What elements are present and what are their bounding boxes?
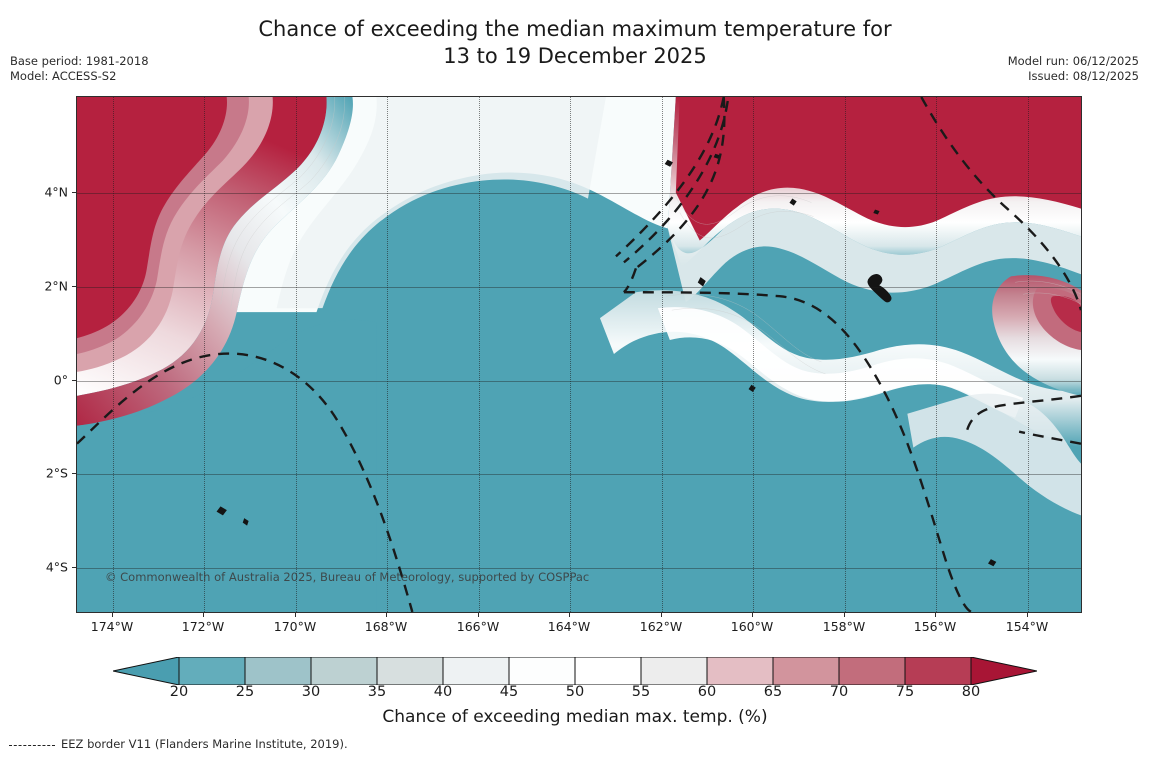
xtick-label-154w: 154°W: [1006, 619, 1048, 634]
colorbar-tick-80: 80: [962, 684, 980, 700]
ytick-mark: [72, 286, 76, 287]
title-line-1: Chance of exceeding the median maximum t…: [0, 16, 1150, 43]
colorbar-tick-55: 55: [632, 684, 650, 700]
xtick-label-164w: 164°W: [548, 619, 590, 634]
map-plot-area: © Commonwealth of Australia 2025, Bureau…: [76, 96, 1082, 613]
xtick-mark: [478, 613, 479, 617]
metadata-left: Base period: 1981-2018 Model: ACCESS-S2: [10, 54, 149, 84]
colorbar-tick-65: 65: [764, 684, 782, 700]
colorbar-tick-60: 60: [698, 684, 716, 700]
xtick-label-172w: 172°W: [182, 619, 224, 634]
xtick-label-168w: 168°W: [365, 619, 407, 634]
xtick-mark: [295, 613, 296, 617]
probability-contour-map: [77, 97, 1081, 612]
xtick-mark: [386, 613, 387, 617]
ytick-mark: [72, 473, 76, 474]
ytick-mark: [72, 192, 76, 193]
metadata-right: Model run: 06/12/2025 Issued: 08/12/2025: [1008, 54, 1139, 84]
ytick-label-4n: 4°N: [0, 185, 68, 200]
xtick-mark: [569, 613, 570, 617]
eez-legend-label: EEZ border V11 (Flanders Marine Institut…: [61, 737, 348, 751]
page-title: Chance of exceeding the median maximum t…: [0, 16, 1150, 70]
xtick-label-174w: 174°W: [91, 619, 133, 634]
colorbar-tick-25: 25: [236, 684, 254, 700]
xtick-mark: [112, 613, 113, 617]
xtick-label-156w: 156°W: [914, 619, 956, 634]
ytick-label-2n: 2°N: [0, 279, 68, 294]
ytick-mark: [72, 567, 76, 568]
ytick-label-4s: 4°S: [0, 560, 68, 575]
colorbar-tick-45: 45: [500, 684, 518, 700]
title-line-2: 13 to 19 December 2025: [0, 43, 1150, 70]
xtick-mark: [752, 613, 753, 617]
colorbar-tick-30: 30: [302, 684, 320, 700]
xtick-label-170w: 170°W: [274, 619, 316, 634]
colorbar-axis-label: Chance of exceeding median max. temp. (%…: [0, 707, 1150, 727]
xtick-mark: [203, 613, 204, 617]
eez-dash-icon: [9, 745, 55, 746]
colorbar-tick-70: 70: [830, 684, 848, 700]
xtick-mark: [935, 613, 936, 617]
colorbar-tick-50: 50: [566, 684, 584, 700]
xtick-label-158w: 158°W: [823, 619, 865, 634]
xtick-label-160w: 160°W: [731, 619, 773, 634]
colorbar-tick-20: 20: [170, 684, 188, 700]
model-run-text: Model run: 06/12/2025: [1008, 54, 1139, 69]
xtick-mark: [1027, 613, 1028, 617]
xtick-mark: [661, 613, 662, 617]
model-text: Model: ACCESS-S2: [10, 69, 149, 84]
colorbar-tick-40: 40: [434, 684, 452, 700]
colorbar: [113, 657, 1037, 685]
ytick-label-0: 0°: [0, 373, 68, 388]
ytick-label-2s: 2°S: [0, 466, 68, 481]
xtick-label-166w: 166°W: [457, 619, 499, 634]
colorbar-swatches: [113, 657, 1037, 685]
issued-text: Issued: 08/12/2025: [1008, 69, 1139, 84]
ytick-mark: [72, 380, 76, 381]
xtick-label-162w: 162°W: [640, 619, 682, 634]
colorbar-tick-75: 75: [896, 684, 914, 700]
xtick-mark: [844, 613, 845, 617]
base-period-text: Base period: 1981-2018: [10, 54, 149, 69]
colorbar-tick-35: 35: [368, 684, 386, 700]
eez-legend: EEZ border V11 (Flanders Marine Institut…: [9, 737, 348, 751]
